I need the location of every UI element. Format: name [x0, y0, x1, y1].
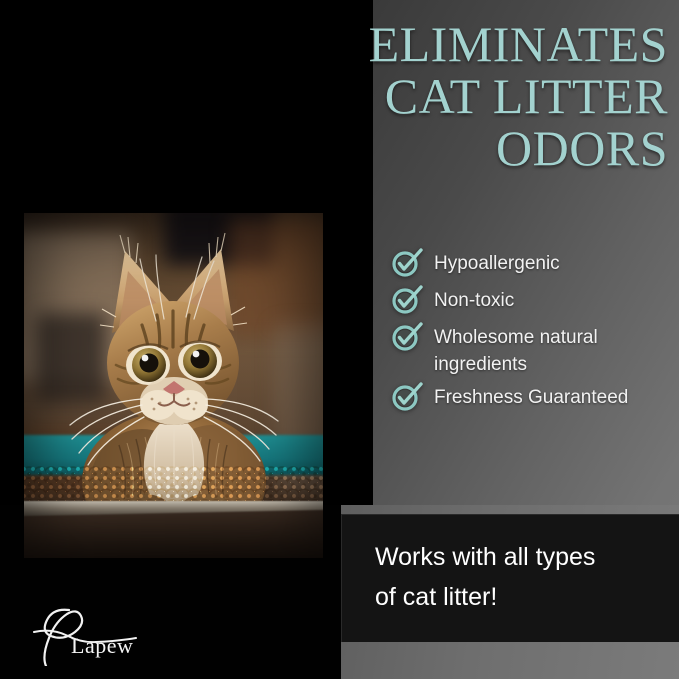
check-circle-icon — [390, 288, 422, 318]
product-photo — [24, 213, 323, 558]
check-circle-icon — [390, 251, 422, 281]
headline-line-1: ELIMINATES — [268, 18, 668, 70]
litter-box-front — [24, 510, 323, 558]
benefit-item: Wholesome natural ingredients — [390, 324, 676, 378]
headline-line-2: CAT LITTER — [268, 70, 668, 122]
benefit-label: Hypoallergenic — [434, 250, 560, 277]
brand-logo: Lapew — [24, 604, 154, 666]
callout-panel: Works with all types of cat litter! — [341, 514, 679, 642]
benefit-item: Non-toxic — [390, 287, 676, 318]
check-circle-icon — [390, 385, 422, 415]
headline: ELIMINATES CAT LITTER ODORS — [268, 18, 668, 174]
benefits-list: Hypoallergenic Non-toxic Wholesome n — [390, 250, 676, 421]
benefit-label: Wholesome natural ingredients — [434, 324, 676, 378]
headline-line-3: ODORS — [268, 122, 668, 174]
brand-name: Lapew — [71, 633, 133, 659]
check-circle-icon — [390, 325, 422, 355]
benefit-label: Non-toxic — [434, 287, 514, 314]
benefit-item: Freshness Guaranteed — [390, 384, 676, 415]
benefit-item: Hypoallergenic — [390, 250, 676, 281]
benefit-label: Freshness Guaranteed — [434, 384, 628, 411]
ad-creative-canvas: ELIMINATES CAT LITTER ODORS Hypoallergen… — [0, 0, 679, 679]
callout-line-2: of cat litter! — [375, 577, 679, 617]
callout-line-1: Works with all types — [375, 537, 679, 577]
